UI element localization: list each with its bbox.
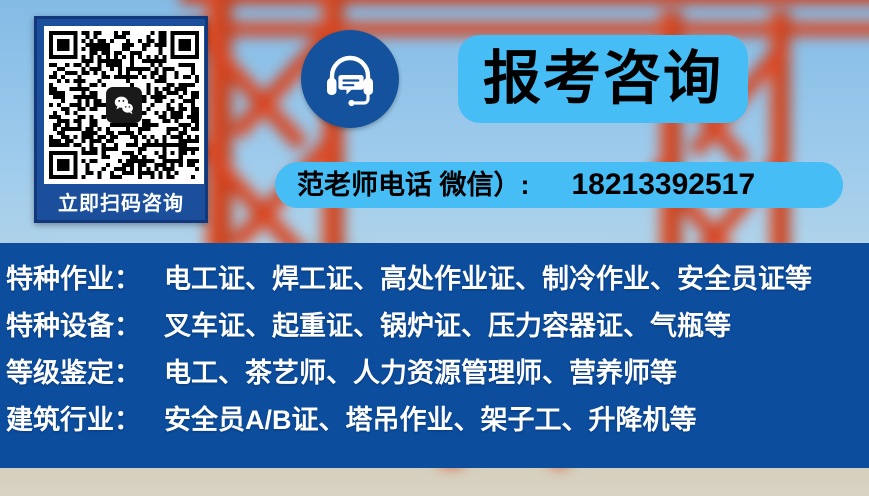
category-row-grade-assessment: 等级鉴定： 电工、茶艺师、人力资源管理师、营养师等 bbox=[6, 351, 869, 398]
wechat-logo-icon bbox=[106, 87, 142, 123]
advertisement-banner: 立即扫码咨询 报考咨询 范老师电话 微信）: 18213392517 特种作业： bbox=[0, 0, 869, 496]
contact-phone-number[interactable]: 18213392517 bbox=[572, 170, 756, 200]
service-categories-panel: 特种作业： 电工证、焊工证、高处作业证、制冷作业、安全员证等 特种设备： 叉车证… bbox=[0, 243, 869, 468]
contact-label: 范老师电话 微信）: bbox=[297, 172, 530, 199]
category-items: 电工、茶艺师、人力资源管理师、营养师等 bbox=[164, 351, 677, 390]
qr-code-image[interactable] bbox=[44, 26, 204, 184]
page-title: 报考咨询 bbox=[483, 50, 723, 108]
category-name: 建筑行业： bbox=[6, 398, 164, 437]
page-title-pill: 报考咨询 bbox=[458, 35, 748, 123]
category-items: 叉车证、起重证、锅炉证、压力容器证、气瓶等 bbox=[164, 304, 731, 343]
category-name: 特种作业： bbox=[6, 257, 164, 296]
qr-code-card[interactable]: 立即扫码咨询 bbox=[34, 16, 208, 223]
qr-card-caption: 立即扫码咨询 bbox=[44, 184, 198, 224]
category-items: 电工证、焊工证、高处作业证、制冷作业、安全员证等 bbox=[164, 257, 812, 296]
category-items: 安全员A/B证、塔吊作业、架子工、升降机等 bbox=[164, 398, 697, 437]
category-row-construction-industry: 建筑行业： 安全员A/B证、塔吊作业、架子工、升降机等 bbox=[6, 398, 869, 445]
category-row-special-operations: 特种作业： 电工证、焊工证、高处作业证、制冷作业、安全员证等 bbox=[6, 257, 869, 304]
category-name: 特种设备： bbox=[6, 304, 164, 343]
category-row-special-equipment: 特种设备： 叉车证、起重证、锅炉证、压力容器证、气瓶等 bbox=[6, 304, 869, 351]
headset-support-icon bbox=[301, 30, 399, 128]
category-name: 等级鉴定： bbox=[6, 351, 164, 390]
contact-phone-pill[interactable]: 范老师电话 微信）: 18213392517 bbox=[275, 162, 843, 208]
